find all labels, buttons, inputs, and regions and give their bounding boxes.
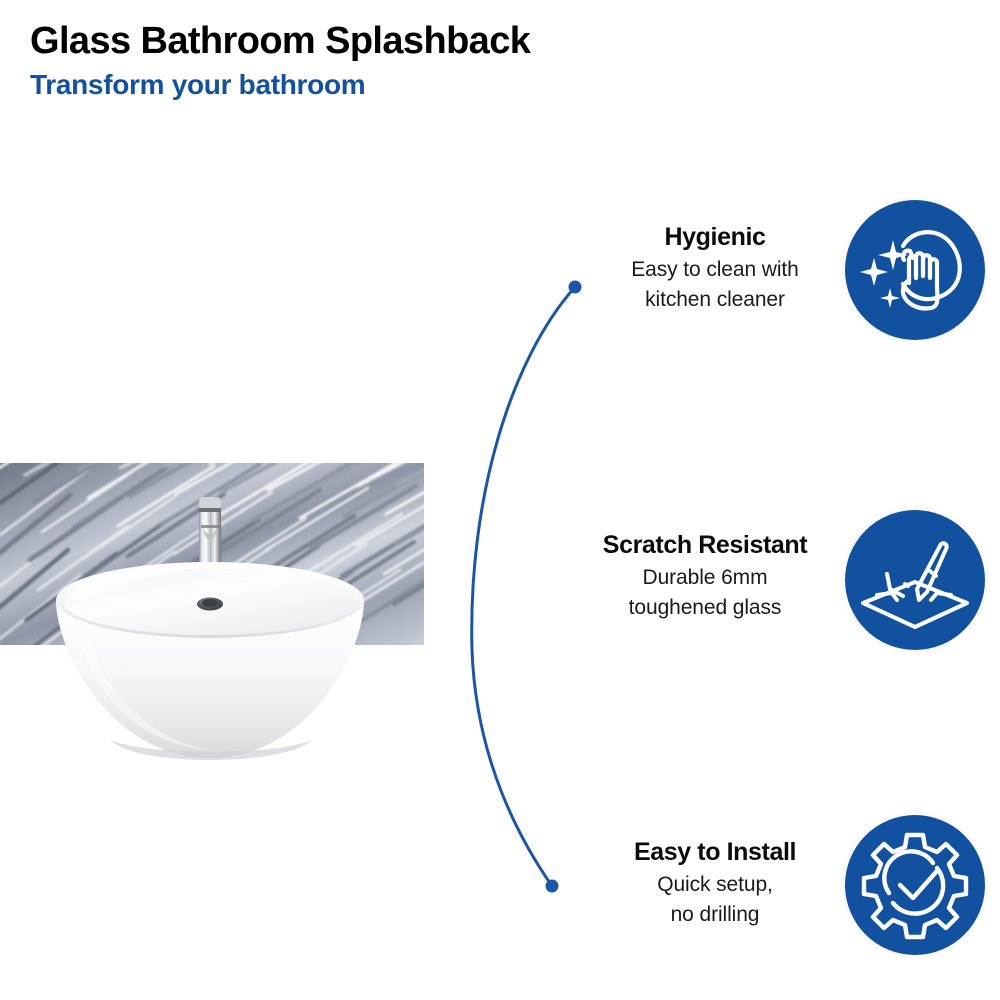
feature-scratch-resistant-desc-line1: Durable 6mm xyxy=(545,563,865,593)
knife-scratch-surface-glyph xyxy=(845,510,985,650)
feature-scratch-resistant-description: Durable 6mm toughened glass xyxy=(545,563,865,623)
feature-hygienic-description: Easy to clean with kitchen cleaner xyxy=(575,255,855,315)
feature-easy-to-install-title: Easy to Install xyxy=(575,837,855,867)
cleaning-hand-sparkle-icon xyxy=(845,200,985,340)
page-title: Glass Bathroom Splashback xyxy=(30,22,730,62)
gear-checkmark-icon xyxy=(845,815,985,955)
gear-checkmark-glyph xyxy=(845,815,985,955)
header: Glass Bathroom Splashback Transform your… xyxy=(30,22,730,101)
page-subtitle: Transform your bathroom xyxy=(30,69,730,101)
feature-easy-to-install-desc-line1: Quick setup, xyxy=(575,870,855,900)
sparkle-group xyxy=(860,240,908,308)
feature-scratch-resistant-desc-line2: toughened glass xyxy=(545,593,865,623)
infographic-page: Glass Bathroom Splashback Transform your… xyxy=(0,0,1000,1000)
feature-hygienic: Hygienic Easy to clean with kitchen clea… xyxy=(520,200,1000,360)
feature-easy-to-install-text: Easy to Install Quick setup, no drilling xyxy=(575,837,855,930)
feature-hygienic-desc-line1: Easy to clean with xyxy=(575,255,855,285)
knife-scratch-surface-icon xyxy=(845,510,985,650)
feature-scratch-resistant: Scratch Resistant Durable 6mm toughened … xyxy=(520,510,1000,670)
feature-hygienic-text: Hygienic Easy to clean with kitchen clea… xyxy=(575,222,855,315)
feature-easy-to-install-description: Quick setup, no drilling xyxy=(575,870,855,930)
product-image xyxy=(0,440,440,780)
feature-hygienic-title: Hygienic xyxy=(575,222,855,252)
feature-easy-to-install-desc-line2: no drilling xyxy=(575,900,855,930)
ceramic-basin xyxy=(56,562,364,760)
feature-easy-to-install: Easy to Install Quick setup, no drilling xyxy=(520,815,1000,975)
feature-scratch-resistant-title: Scratch Resistant xyxy=(545,530,865,560)
product-illustration xyxy=(0,440,440,780)
feature-hygienic-desc-line2: kitchen cleaner xyxy=(575,285,855,315)
feature-scratch-resistant-text: Scratch Resistant Durable 6mm toughened … xyxy=(545,530,865,623)
cleaning-hand-sparkle-glyph xyxy=(845,200,985,340)
